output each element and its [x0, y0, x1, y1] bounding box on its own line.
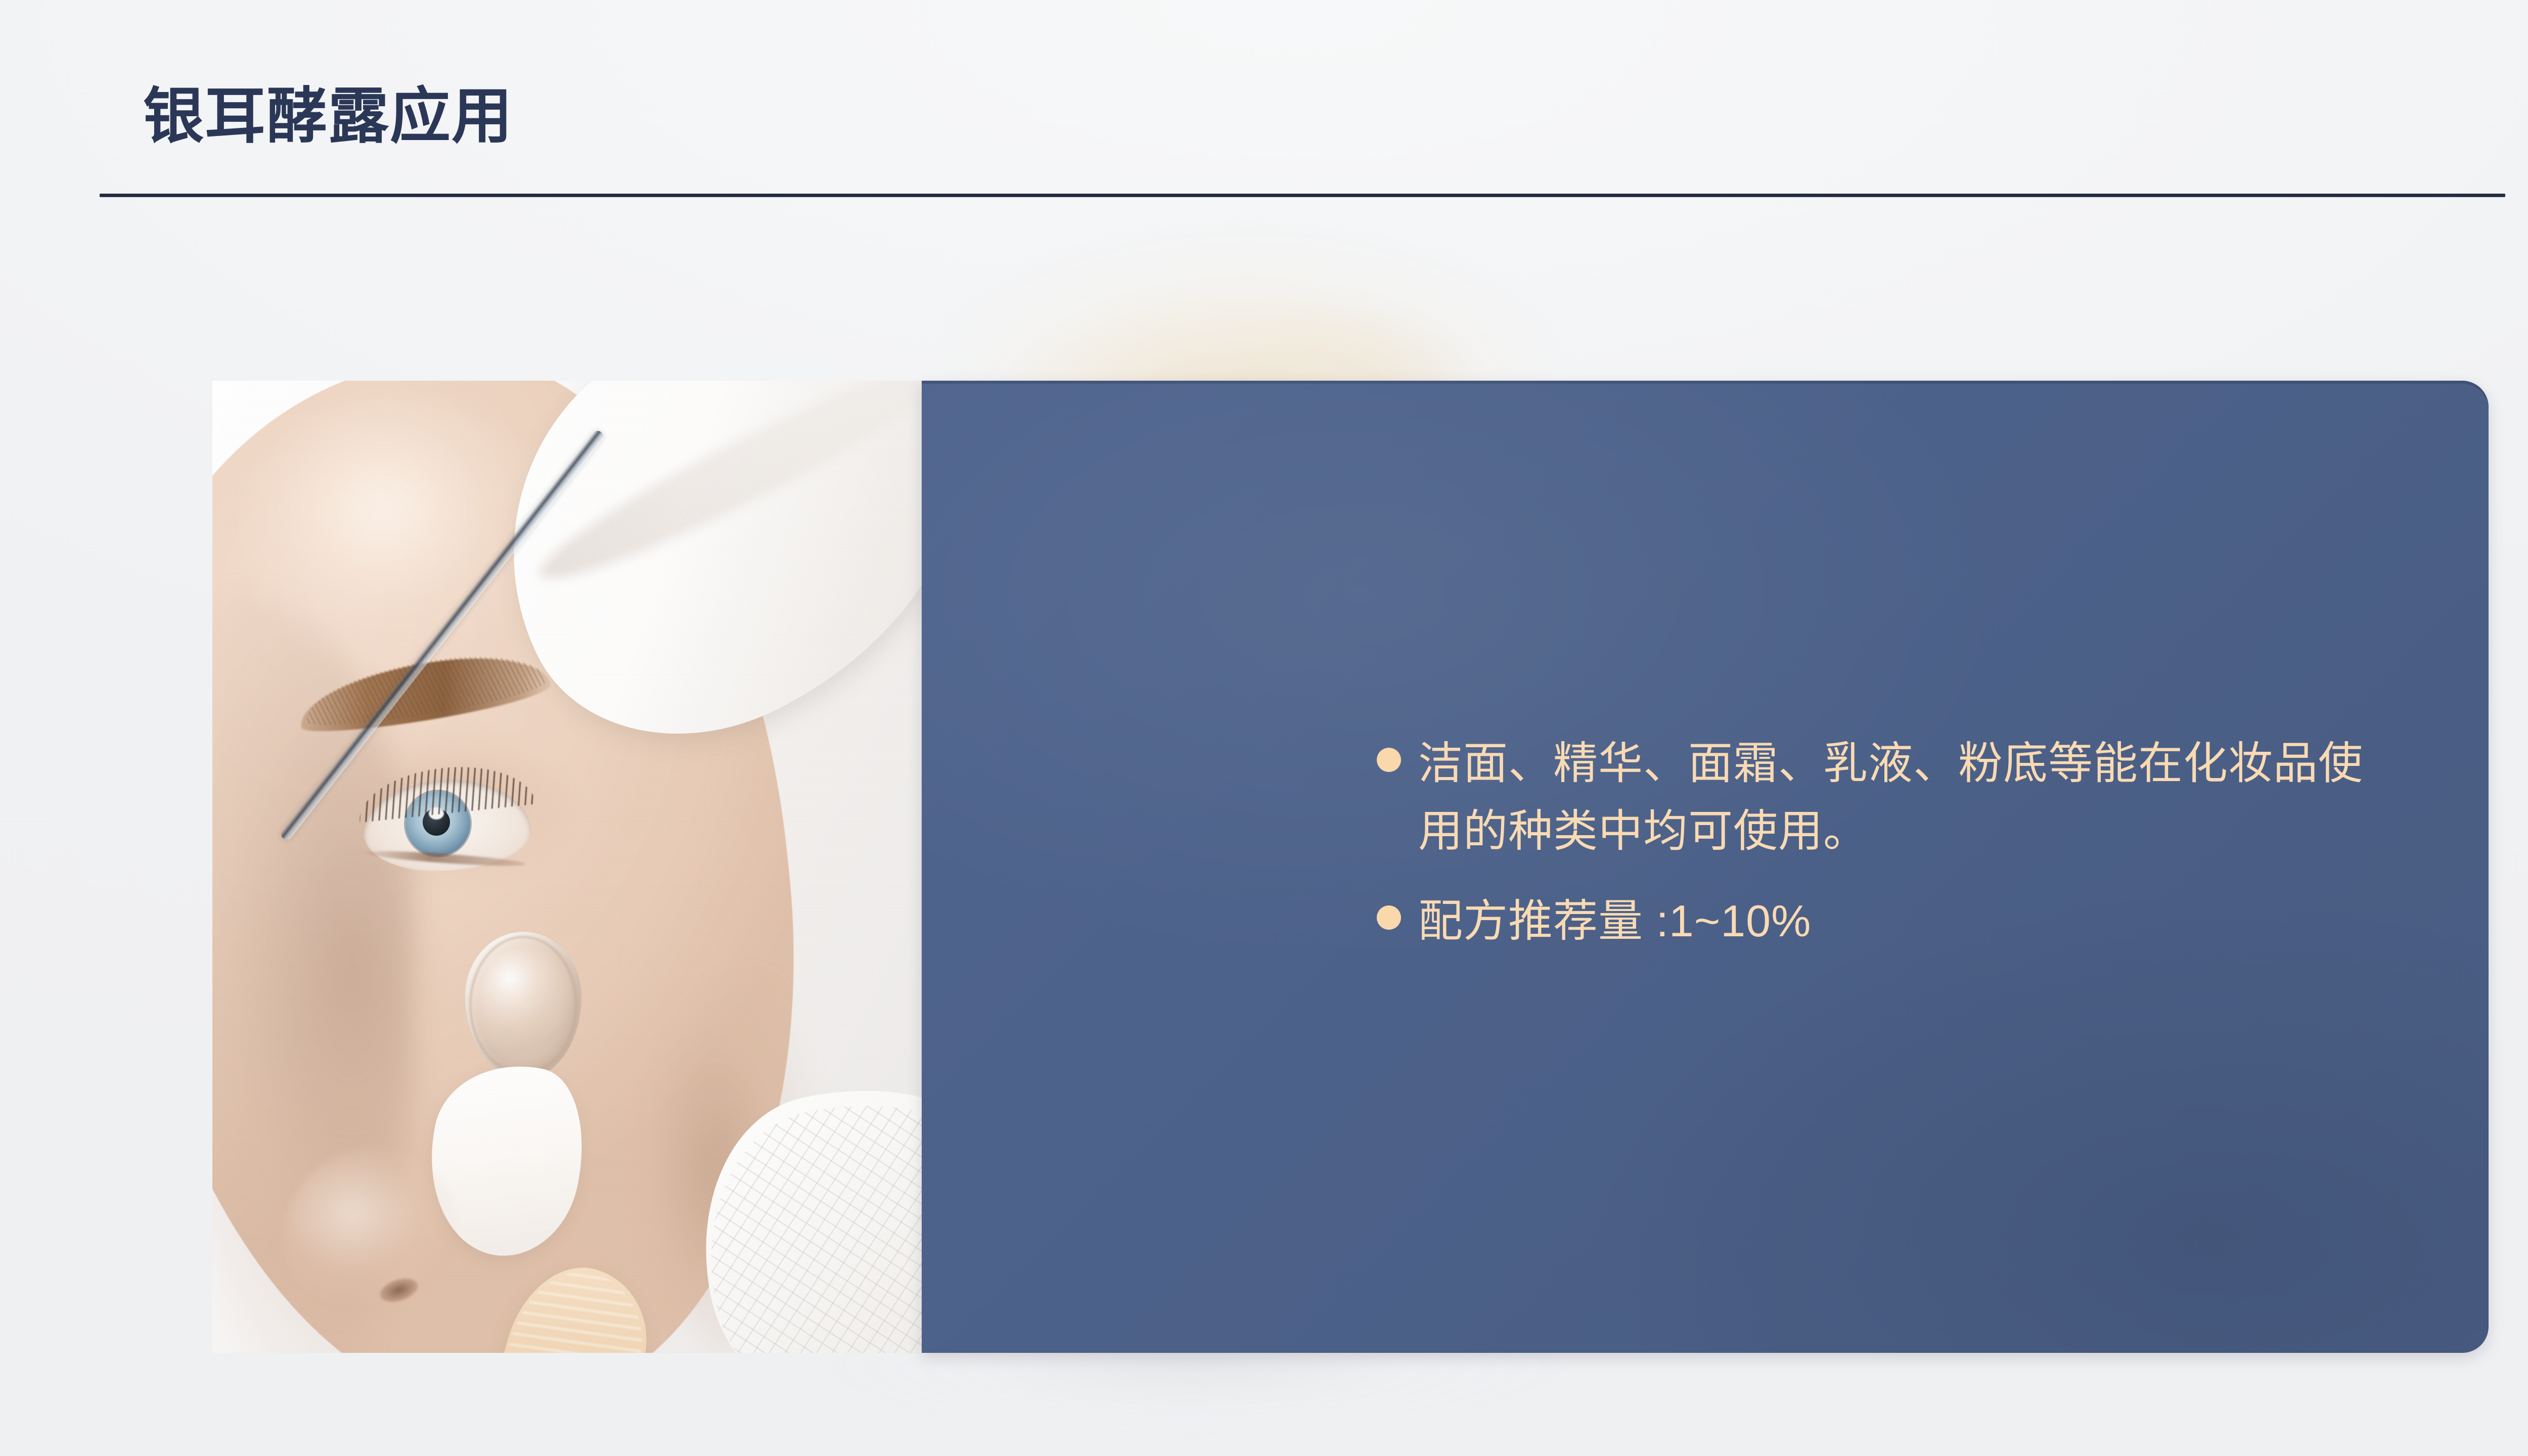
list-item: 洁面、精华、面霜、乳液、粉底等能在化妆品使用的种类中均可使用。	[1377, 730, 2388, 865]
content-card: 洁面、精华、面霜、乳液、粉底等能在化妆品使用的种类中均可使用。 配方推荐量 :1…	[212, 381, 2489, 1353]
product-photo	[212, 381, 922, 1353]
bullet-dot-icon	[1377, 905, 1401, 930]
forehead-highlight	[243, 396, 556, 679]
page-title: 银耳酵露应用	[143, 81, 513, 153]
serum-droplet-rim	[469, 936, 577, 1074]
bullet-text: 洁面、精华、面霜、乳液、粉底等能在化妆品使用的种类中均可使用。	[1418, 730, 2388, 865]
bullet-list: 洁面、精华、面霜、乳液、粉底等能在化妆品使用的种类中均可使用。 配方推荐量 :1…	[1377, 730, 2388, 977]
list-item: 配方推荐量 :1~10%	[1377, 887, 2388, 955]
header-divider	[100, 194, 2505, 197]
powder-mound-decoration	[951, 200, 1547, 412]
bullet-dot-icon	[1377, 748, 1401, 772]
info-panel: 洁面、精华、面霜、乳液、粉底等能在化妆品使用的种类中均可使用。 配方推荐量 :1…	[922, 381, 2489, 1353]
powder-shadow-decoration	[799, 1353, 1588, 1456]
bullet-text: 配方推荐量 :1~10%	[1418, 887, 1811, 955]
